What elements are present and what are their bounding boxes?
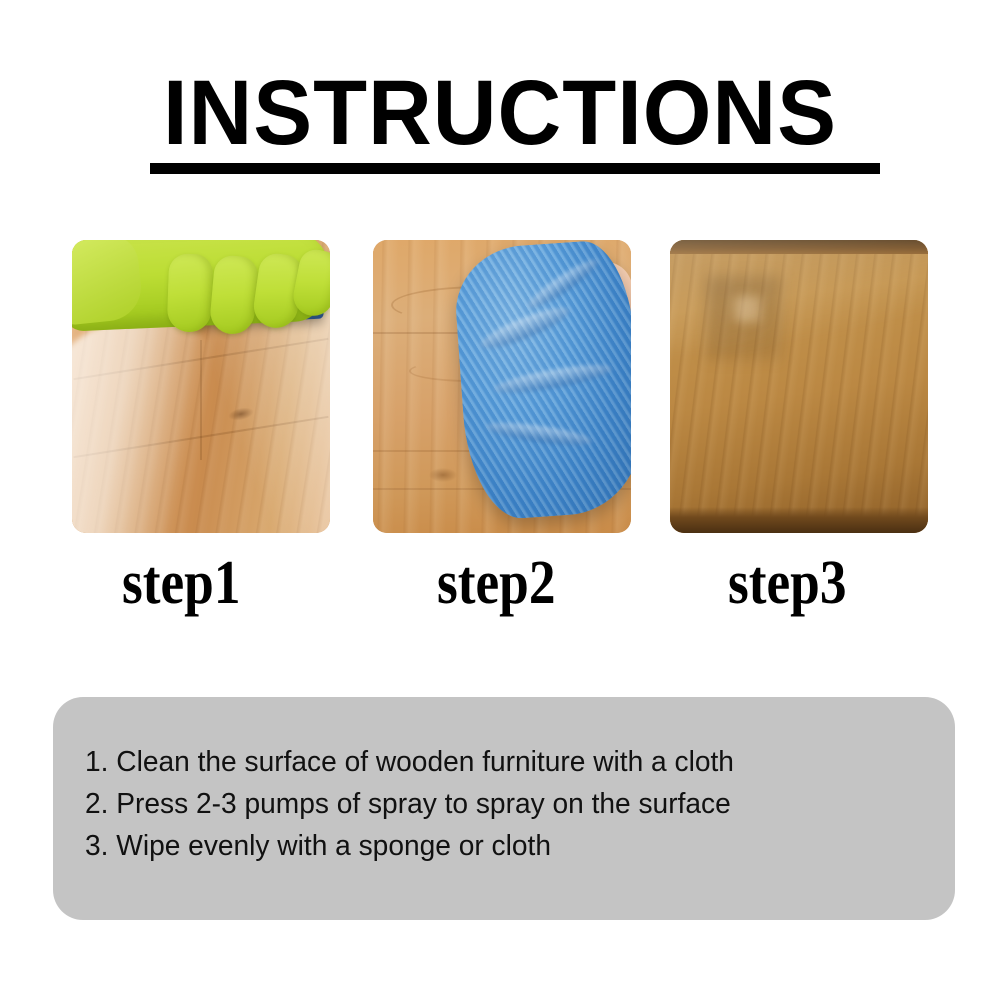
- page-title: INSTRUCTIONS: [20, 70, 980, 157]
- step-label-1: step1: [122, 552, 240, 614]
- step-label-2: step2: [437, 552, 555, 614]
- instruction-item-1: 1. Clean the surface of wooden furniture…: [85, 741, 906, 783]
- step-image-3: [670, 240, 928, 533]
- photo-hand-cloth-wood: [373, 240, 631, 533]
- step-image-row: [0, 240, 1000, 535]
- surface-gloss: [670, 240, 928, 350]
- instruction-list: 1. Clean the surface of wooden furniture…: [85, 741, 931, 867]
- title-underline-rule: [150, 163, 880, 174]
- step-image-1: [72, 240, 330, 533]
- glove-finger: [167, 253, 214, 332]
- step-label-3: step3: [728, 552, 846, 614]
- instruction-item-2: 2. Press 2-3 pumps of spray to spray on …: [85, 783, 906, 825]
- page-title-block: INSTRUCTIONS: [0, 70, 1000, 157]
- step-label-row: step1 step2 step3: [0, 552, 1000, 622]
- photo-glove-sponge-wood: [72, 240, 330, 533]
- step-image-2: [373, 240, 631, 533]
- photo-polished-wood: [670, 240, 928, 533]
- floor-sheen: [210, 300, 330, 533]
- table-bottom-edge: [670, 507, 928, 533]
- wood-knot: [429, 468, 457, 482]
- instruction-item-3: 3. Wipe evenly with a sponge or cloth: [85, 825, 906, 867]
- instruction-box: 1. Clean the surface of wooden furniture…: [53, 697, 955, 920]
